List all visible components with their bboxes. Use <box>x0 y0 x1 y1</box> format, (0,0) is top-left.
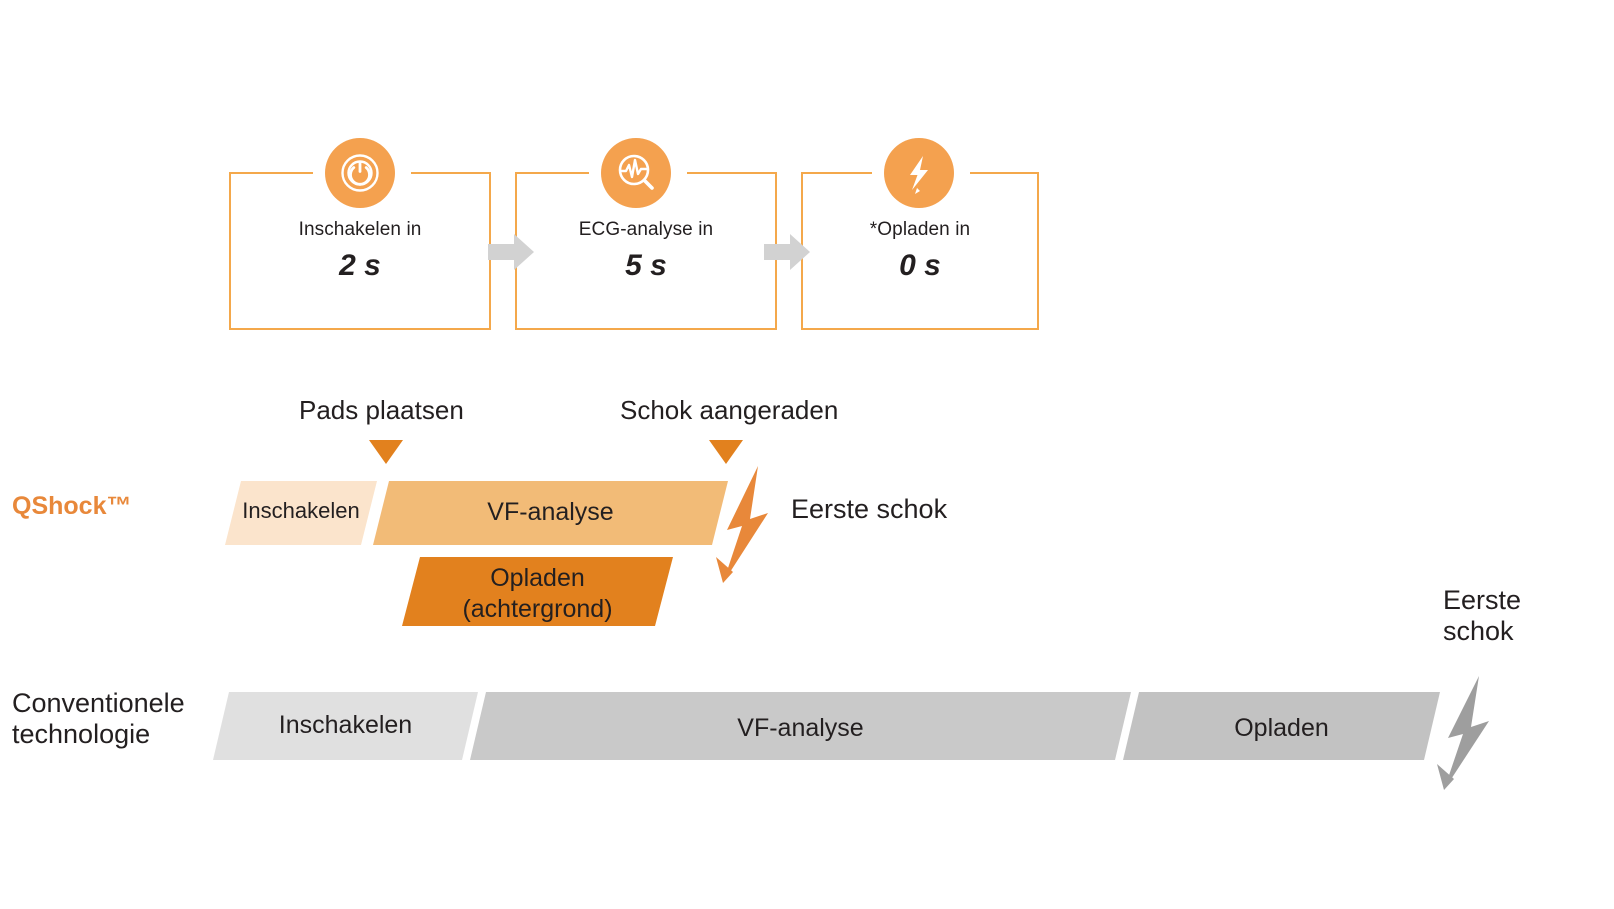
marker-label-pads-plaatsen: Pads plaatsen <box>299 395 464 426</box>
bar-label-qshock-inschakelen: Inschakelen <box>225 498 377 524</box>
marker-triangle-icon <box>709 440 743 464</box>
shock-label-conventional: Eerste schok <box>1443 585 1521 647</box>
bar-conventional-vf-analyse <box>470 692 1131 760</box>
timeline-comparison: QShock™ Conventionele technologie Pads p… <box>0 0 1614 909</box>
lightning-bolt-icon-qshock <box>716 466 768 583</box>
bar-conventional-inschakelen <box>213 692 478 760</box>
row-label-qshock: QShock™ <box>12 492 131 521</box>
bar-qshock-opladen <box>402 557 673 626</box>
shock-label-qshock: Eerste schok <box>791 494 947 525</box>
bar-label-qshock-opladen: Opladen (achtergrond) <box>402 563 673 625</box>
bar-label-qshock-vf-analyse: VF-analyse <box>373 498 728 527</box>
bar-conventional-opladen <box>1123 692 1440 760</box>
bar-qshock-inschakelen <box>225 481 377 545</box>
bar-qshock-vf-analyse <box>373 481 728 545</box>
row-label-conventional: Conventionele technologie <box>12 688 185 750</box>
marker-label-schok-aangeraden: Schok aangeraden <box>620 395 838 426</box>
bar-label-conventional-opladen: Opladen <box>1123 714 1440 743</box>
lightning-bolt-icon-conventional <box>1437 676 1489 790</box>
marker-triangle-icon <box>369 440 403 464</box>
bar-label-conventional-inschakelen: Inschakelen <box>213 711 478 740</box>
bar-label-conventional-vf-analyse: VF-analyse <box>470 714 1131 743</box>
